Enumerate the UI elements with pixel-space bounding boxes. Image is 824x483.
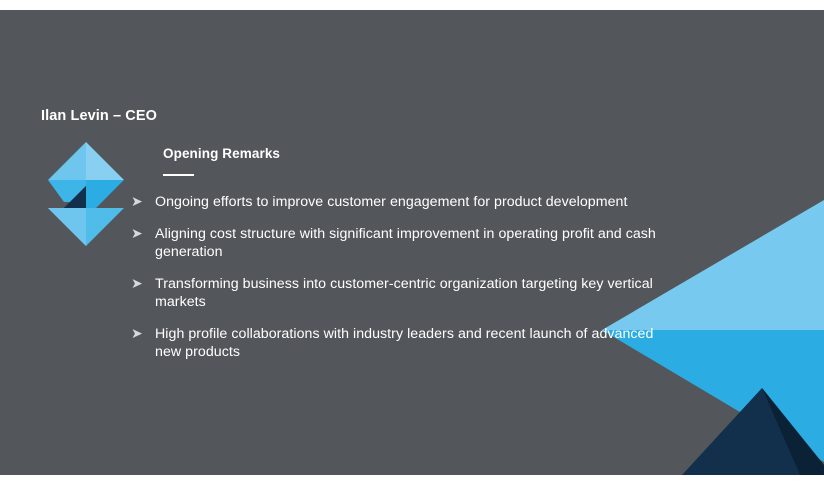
arrow-bullet-icon: ➤ (131, 325, 155, 344)
arrow-bullet-icon: ➤ (131, 275, 155, 294)
speaker-title: Ilan Levin – CEO (41, 108, 157, 124)
section-heading: Opening Remarks (163, 146, 280, 161)
list-item: ➤ Transforming business into customer-ce… (131, 275, 676, 312)
list-item: ➤ Aligning cost structure with significa… (131, 225, 676, 262)
list-item-text: Transforming business into customer-cent… (155, 275, 676, 312)
list-item: ➤ High profile collaborations with indus… (131, 325, 676, 362)
list-item-text: Aligning cost structure with significant… (155, 225, 676, 262)
list-item: ➤ Ongoing efforts to improve customer en… (131, 193, 676, 212)
heading-underline (163, 174, 194, 176)
slide-canvas: Ilan Levin – CEO Opening Remarks ➤ Ongoi… (0, 10, 824, 475)
list-item-text: Ongoing efforts to improve customer enga… (155, 193, 676, 212)
list-item-text: High profile collaborations with industr… (155, 325, 676, 362)
stratasys-double-diamond-logo (38, 138, 134, 250)
arrow-bullet-icon: ➤ (131, 225, 155, 244)
arrow-bullet-icon: ➤ (131, 193, 155, 212)
bullet-list: ➤ Ongoing efforts to improve customer en… (131, 193, 676, 362)
